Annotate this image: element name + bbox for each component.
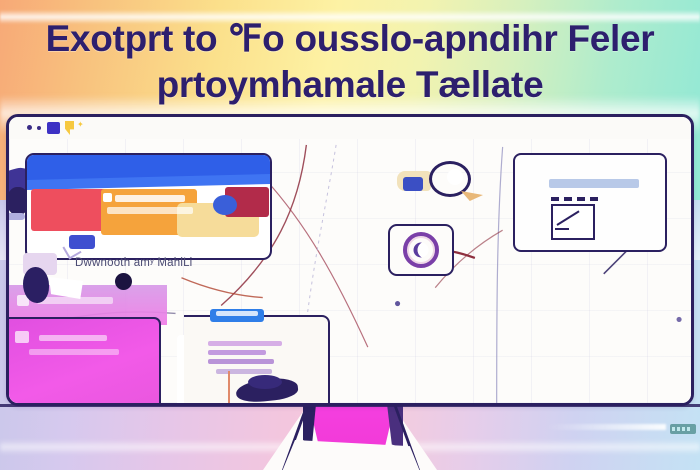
chart-icon <box>551 204 595 240</box>
monitor-bezel: ✦ <box>6 114 694 406</box>
magenta-panel-line-2 <box>29 349 119 355</box>
monitor-stand <box>263 404 437 470</box>
banner-text-line-1 <box>115 195 185 202</box>
stand-accent <box>309 404 395 448</box>
document-line <box>216 369 272 374</box>
background-haze-top <box>0 10 700 24</box>
dark-blob-shape <box>23 267 49 303</box>
document-axis <box>228 371 230 403</box>
document-panel[interactable] <box>184 315 330 403</box>
right-card[interactable] <box>513 153 667 252</box>
illustration-canvas: Exotprt to ℉o ousslo-apndihr Feler prtoy… <box>0 0 700 470</box>
right-card-dashes <box>551 197 601 201</box>
desk-edge-line <box>0 404 700 407</box>
banner-circle <box>213 195 237 215</box>
black-dot-shape <box>115 273 132 290</box>
window-toolbar[interactable]: ✦ <box>9 117 691 141</box>
document-line <box>208 341 282 346</box>
screen-content: Dwwnooth amʸ MahlLi <box>9 139 691 403</box>
sketch-chip <box>403 177 423 191</box>
corner-light-ray <box>546 424 666 430</box>
magenta-panel-icon <box>15 331 29 343</box>
document-line <box>208 359 274 364</box>
sketch-ring-inner <box>447 169 463 185</box>
doodle-shape-3 <box>9 213 25 220</box>
banner-text-line-2 <box>107 207 193 214</box>
monitor: ✦ <box>6 114 694 406</box>
center-badge[interactable] <box>388 224 454 276</box>
document-chart-blob-highlight <box>248 375 282 389</box>
magenta-panel[interactable] <box>9 317 161 403</box>
document-line <box>208 350 266 355</box>
toolbar-dot-secondary-icon <box>37 126 41 130</box>
sparkle-icon: ✦ <box>77 120 84 129</box>
toolbar-square-icon[interactable] <box>47 122 60 134</box>
cursor-icon <box>65 121 74 135</box>
magenta-panel-line-1 <box>39 335 107 341</box>
corner-chip-artifact <box>670 424 696 434</box>
badge-crescent-icon <box>414 243 429 258</box>
download-label: Dwwnooth amʸ MahlLi <box>75 257 192 269</box>
sketch-tail <box>461 191 483 201</box>
banner-logo-icon <box>103 193 112 202</box>
banner-card[interactable] <box>25 153 272 260</box>
right-card-title-bar <box>549 179 639 188</box>
document-tag-text <box>216 311 258 316</box>
toolbar-dot-icon <box>27 125 32 130</box>
folder-icon <box>409 402 449 403</box>
center-sketch <box>381 157 497 209</box>
